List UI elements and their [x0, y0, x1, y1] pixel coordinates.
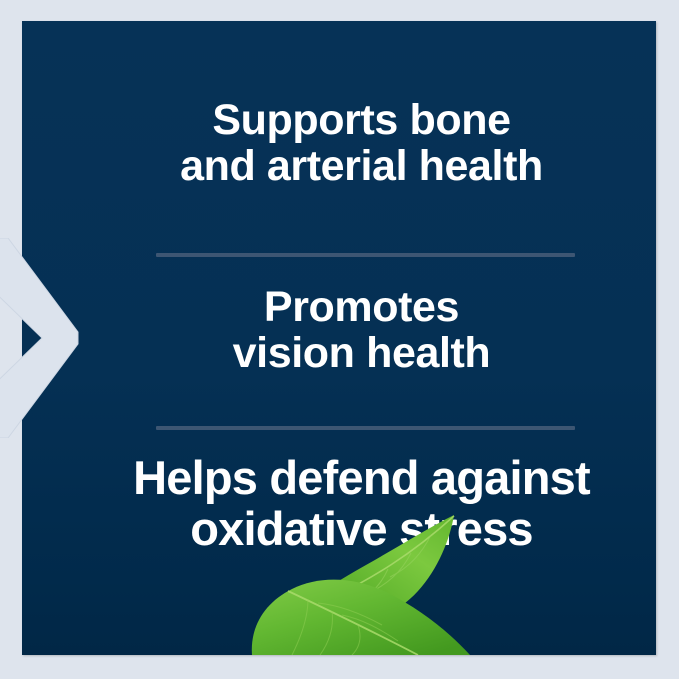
claim-oxidative-stress-line-1: Helps defend against — [22, 453, 656, 504]
claim-oxidative-stress: Helps defend against oxidative stress — [22, 453, 656, 555]
claim-bone-arterial: Supports bone and arterial health — [22, 97, 656, 190]
claim-oxidative-stress-line-2: oxidative stress — [22, 504, 656, 555]
claim-vision-line-2: vision health — [22, 330, 656, 376]
product-benefits-graphic: Supports bone and arterial health Promot… — [0, 0, 679, 679]
claim-bone-arterial-line-2: and arterial health — [22, 143, 656, 189]
claim-vision: Promotes vision health — [22, 284, 656, 377]
claim-vision-line-1: Promotes — [22, 284, 656, 330]
claim-bone-arterial-line-1: Supports bone — [22, 97, 656, 143]
claim-divider-2 — [156, 426, 575, 430]
claims-list: Supports bone and arterial health Promot… — [22, 21, 656, 655]
benefits-panel: Supports bone and arterial health Promot… — [22, 21, 656, 655]
claim-divider-1 — [156, 253, 575, 257]
